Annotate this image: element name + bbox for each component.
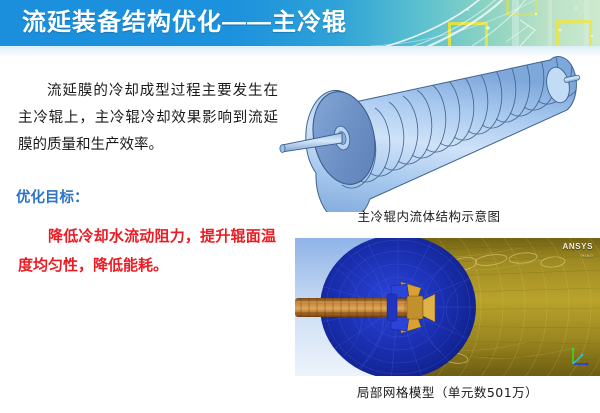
page-title: 流延装备结构优化——主冷辊 [22, 7, 347, 39]
slide-header: 流延装备结构优化——主冷辊 [0, 0, 600, 46]
header-swoosh-decoration [370, 0, 600, 46]
optimization-goal-text: 降低冷却水流动阻力，提升辊面温度均匀性，降低能耗。 [18, 222, 276, 280]
cad-cylinder-figure [258, 52, 600, 212]
ansys-logo-version: R16.0 [562, 252, 593, 260]
ansys-logo: ANSYS R16.0 [562, 243, 593, 260]
ansys-mesh-figure: ANSYS R16.0 [295, 238, 600, 376]
cad-figure-caption: 主冷辊内流体结构示意图 [258, 206, 600, 225]
mesh-figure-caption: 局部网格模型（单元数501万） [295, 382, 600, 401]
slide-root: 流延装备结构优化——主冷辊 流延膜的冷却成型过程主要发生在主冷辊上，主冷辊冷却效… [0, 0, 600, 413]
ansys-mesh-render [295, 238, 600, 376]
intro-paragraph: 流延膜的冷却成型过程主要发生在主冷辊上，主冷辊冷却效果影响到流延膜的质量和生产效… [18, 78, 278, 159]
optimization-goal-label: 优化目标： [16, 188, 89, 208]
ansys-logo-text: ANSYS [562, 242, 593, 251]
